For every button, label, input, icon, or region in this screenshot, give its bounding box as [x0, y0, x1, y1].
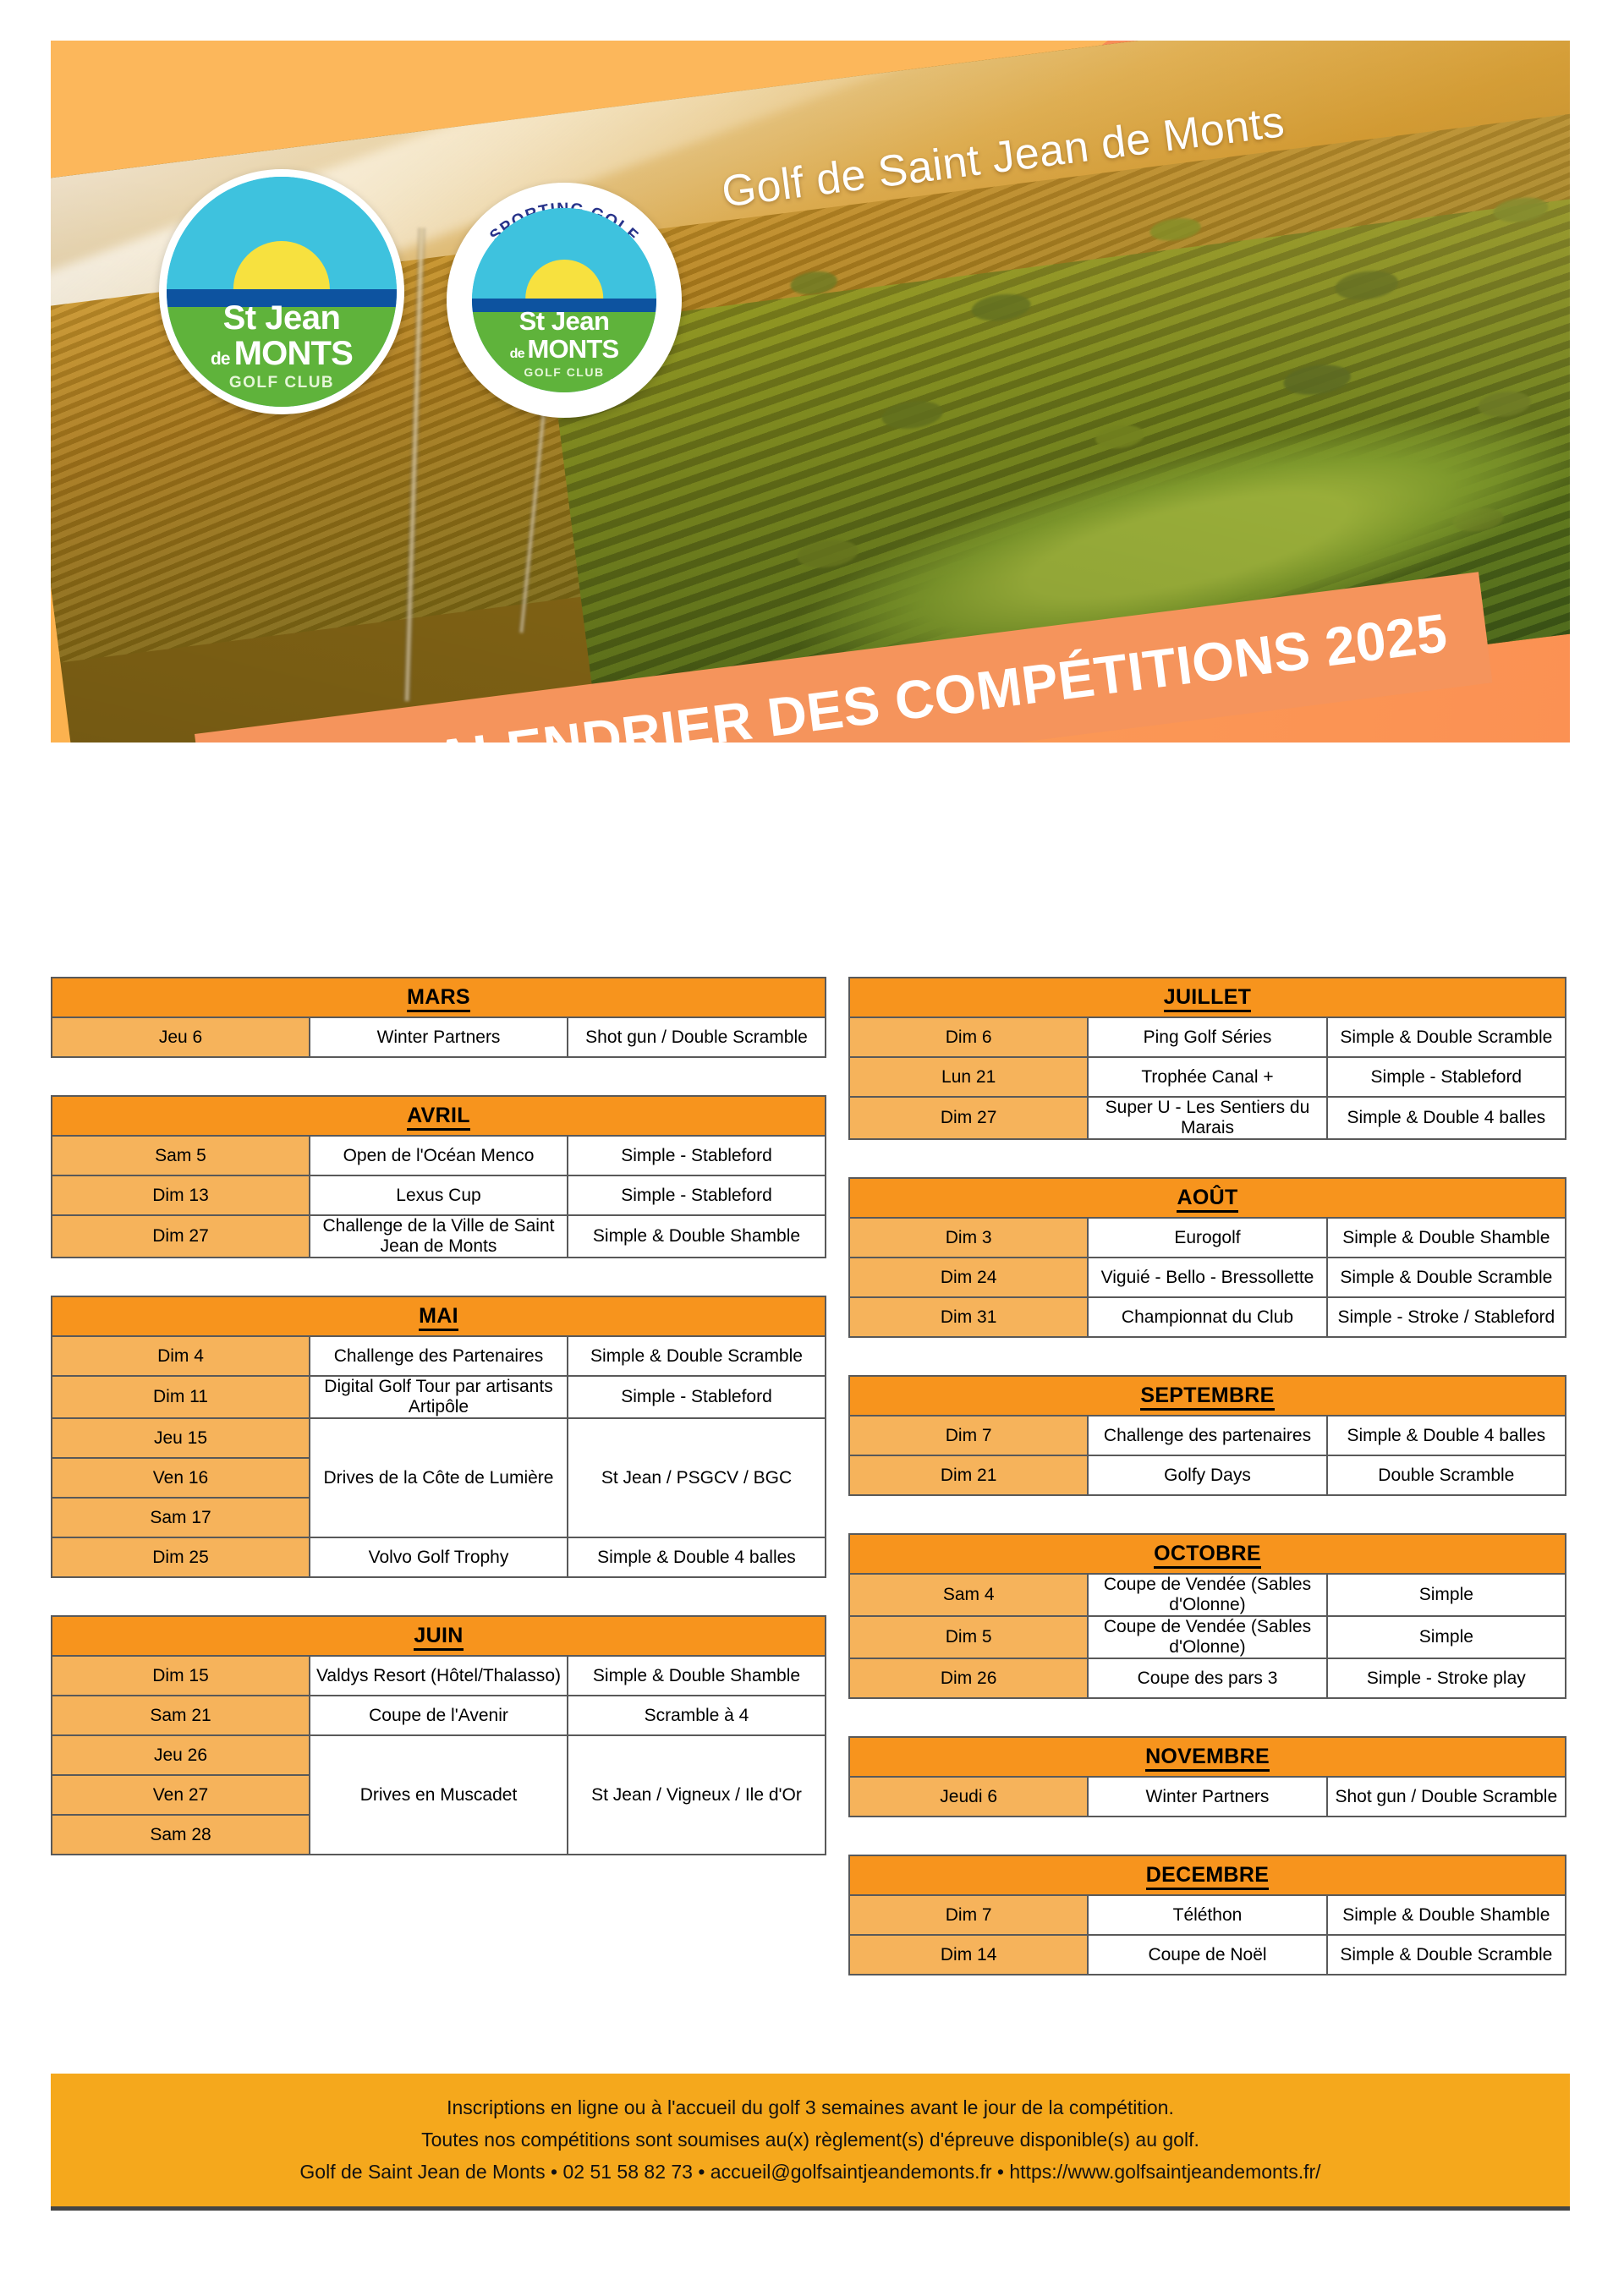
- month-table-juillet: JUILLETDim 6Ping Golf SériesSimple & Dou…: [848, 977, 1566, 1140]
- table-row: Dim 7TéléthonSimple & Double Shamble: [849, 1895, 1566, 1935]
- competition-date: Sam 21: [52, 1696, 310, 1735]
- footer-rules-note: Toutes nos compétitions sont soumises au…: [421, 2129, 1199, 2151]
- competition-format: Shot gun / Double Scramble: [1327, 1777, 1566, 1817]
- competition-date: Dim 27: [52, 1215, 310, 1258]
- table-row: Jeu 26Drives en MuscadetSt Jean / Vigneu…: [52, 1735, 826, 1775]
- competition-name: Trophée Canal +: [1088, 1057, 1326, 1097]
- logo-assoc-line3: GOLF CLUB: [472, 366, 656, 378]
- month-name-label: MAI: [419, 1304, 458, 1331]
- competition-date: Ven 27: [52, 1775, 310, 1815]
- competition-format: Simple & Double Shamble: [568, 1215, 826, 1258]
- competition-name: Drives de la Côte de Lumière: [310, 1418, 568, 1537]
- competition-format: Simple: [1327, 1574, 1566, 1616]
- month-name-septembre: SEPTEMBRE: [849, 1376, 1566, 1416]
- competition-date: Lun 21: [849, 1057, 1088, 1097]
- table-row: Dim 26Coupe des pars 3Simple - Stroke pl…: [849, 1658, 1566, 1698]
- month-table-aout: AOÛTDim 3EurogolfSimple & Double Shamble…: [848, 1177, 1566, 1338]
- competition-format: Simple - Stroke / Stableford: [1327, 1297, 1566, 1337]
- logo-main-de: de: [211, 349, 234, 369]
- competition-date: Jeu 26: [52, 1735, 310, 1775]
- competition-name: Digital Golf Tour par artisants Artipôle: [310, 1376, 568, 1418]
- table-row: Jeu 15Drives de la Côte de LumièreSt Jea…: [52, 1418, 826, 1458]
- month-header-row: DECEMBRE: [849, 1855, 1566, 1895]
- competition-format: Simple - Stableford: [568, 1136, 826, 1175]
- table-row: Dim 21Golfy DaysDouble Scramble: [849, 1455, 1566, 1495]
- month-name-novembre: NOVEMBRE: [849, 1737, 1566, 1777]
- competition-format: Simple & Double Scramble: [1327, 1017, 1566, 1057]
- competition-date: Dim 21: [849, 1455, 1088, 1495]
- month-name-mars: MARS: [52, 978, 826, 1017]
- month-name-octobre: OCTOBRE: [849, 1534, 1566, 1574]
- month-table-avril: AVRILSam 5Open de l'Océan MencoSimple - …: [51, 1095, 826, 1258]
- month-name-juin: JUIN: [52, 1616, 826, 1656]
- month-header-row: JUIN: [52, 1616, 826, 1656]
- table-row: Sam 4Coupe de Vendée (Sables d'Olonne)Si…: [849, 1574, 1566, 1616]
- competition-name: Open de l'Océan Menco: [310, 1136, 568, 1175]
- table-row: Sam 21Coupe de l'AvenirScramble à 4: [52, 1696, 826, 1735]
- page-footer: Inscriptions en ligne ou à l'accueil du …: [51, 2074, 1570, 2211]
- logo-assoc-line1: St Jean: [472, 308, 656, 334]
- logo-main-line3: GOLF CLUB: [167, 375, 397, 391]
- competition-format: Simple - Stableford: [568, 1376, 826, 1418]
- month-name-label: MARS: [407, 985, 470, 1012]
- competition-name: Coupe des pars 3: [1088, 1658, 1326, 1698]
- competition-date: Ven 16: [52, 1458, 310, 1498]
- month-name-label: JUIN: [414, 1624, 463, 1651]
- competition-format: Shot gun / Double Scramble: [568, 1017, 826, 1057]
- logo-assoc-de: de: [510, 346, 528, 361]
- competition-name: Valdys Resort (Hôtel/Thalasso): [310, 1656, 568, 1696]
- logo-main-jean: Jean: [256, 299, 341, 337]
- competition-date: Dim 3: [849, 1218, 1088, 1258]
- logo-assoc-jean: Jean: [545, 306, 610, 336]
- table-row: Dim 27Super U - Les Sentiers du MaraisSi…: [849, 1097, 1566, 1139]
- competition-date: Dim 25: [52, 1537, 310, 1577]
- table-row: Jeudi 6Winter PartnersShot gun / Double …: [849, 1777, 1566, 1817]
- month-name-avril: AVRIL: [52, 1096, 826, 1136]
- month-header-row: SEPTEMBRE: [849, 1376, 1566, 1416]
- competition-name: Challenge des Partenaires: [310, 1336, 568, 1376]
- competition-date: Dim 26: [849, 1658, 1088, 1698]
- competition-name: Winter Partners: [310, 1017, 568, 1057]
- month-name-juillet: JUILLET: [849, 978, 1566, 1017]
- competition-name: Eurogolf: [1088, 1218, 1326, 1258]
- competition-format: Simple & Double Shamble: [1327, 1218, 1566, 1258]
- competition-date: Dim 31: [849, 1297, 1088, 1337]
- competition-date: Dim 6: [849, 1017, 1088, 1057]
- competition-format: Simple & Double 4 balles: [1327, 1416, 1566, 1455]
- logo-sporting-golf-icon: SPORTING GOLF St Jean de MONTS GOLF CLUB…: [447, 183, 682, 418]
- competition-date: Dim 5: [849, 1616, 1088, 1658]
- competition-date: Sam 17: [52, 1498, 310, 1537]
- competition-name: Drives en Muscadet: [310, 1735, 568, 1855]
- table-row: Dim 6Ping Golf SériesSimple & Double Scr…: [849, 1017, 1566, 1057]
- month-table-mai: MAIDim 4Challenge des PartenairesSimple …: [51, 1296, 826, 1578]
- competition-format: Simple & Double Shamble: [1327, 1895, 1566, 1935]
- logo-assoc-inner: St Jean de MONTS GOLF CLUB: [472, 208, 656, 392]
- month-name-label: OCTOBRE: [1154, 1542, 1261, 1569]
- page-header: Golf de Saint Jean de Monts CALENDRIER D…: [51, 41, 1570, 743]
- competition-date: Jeu 15: [52, 1418, 310, 1458]
- competition-name: Winter Partners: [1088, 1777, 1326, 1817]
- competition-format: Simple & Double 4 balles: [1327, 1097, 1566, 1139]
- competition-format: Scramble à 4: [568, 1696, 826, 1735]
- competition-format: Simple - Stableford: [1327, 1057, 1566, 1097]
- competition-name: Volvo Golf Trophy: [310, 1537, 568, 1577]
- competition-name: Super U - Les Sentiers du Marais: [1088, 1097, 1326, 1139]
- competition-name: Golfy Days: [1088, 1455, 1326, 1495]
- competition-name: Téléthon: [1088, 1895, 1326, 1935]
- competition-format: Simple - Stroke play: [1327, 1658, 1566, 1698]
- table-row: Sam 5Open de l'Océan MencoSimple - Stabl…: [52, 1136, 826, 1175]
- logo-assoc-st: St: [519, 306, 545, 336]
- footer-contact-info: Golf de Saint Jean de Monts • 02 51 58 8…: [299, 2161, 1320, 2184]
- table-row: Dim 14Coupe de NoëlSimple & Double Scram…: [849, 1935, 1566, 1975]
- table-row: Dim 4Challenge des PartenairesSimple & D…: [52, 1336, 826, 1376]
- month-table-novembre: NOVEMBREJeudi 6Winter PartnersShot gun /…: [848, 1736, 1566, 1817]
- competition-date: Jeudi 6: [849, 1777, 1088, 1817]
- month-header-row: OCTOBRE: [849, 1534, 1566, 1574]
- competition-date: Dim 7: [849, 1416, 1088, 1455]
- logo-assoc-monts: MONTS: [527, 334, 618, 364]
- table-row: Dim 31Championnat du ClubSimple - Stroke…: [849, 1297, 1566, 1337]
- competition-name: Lexus Cup: [310, 1175, 568, 1215]
- competition-format: St Jean / Vigneux / Ile d'Or: [568, 1735, 826, 1855]
- calendar-column-right: JUILLETDim 6Ping Golf SériesSimple & Dou…: [848, 977, 1566, 2013]
- logo-main-inner: St Jean de MONTS GOLF CLUB: [167, 177, 397, 407]
- competition-format: Simple: [1327, 1616, 1566, 1658]
- table-row: Dim 15Valdys Resort (Hôtel/Thalasso)Simp…: [52, 1656, 826, 1696]
- table-row: Dim 25Volvo Golf TrophySimple & Double 4…: [52, 1537, 826, 1577]
- month-table-juin: JUINDim 15Valdys Resort (Hôtel/Thalasso)…: [51, 1615, 826, 1855]
- competition-date: Dim 14: [849, 1935, 1088, 1975]
- logo-main-st: St: [223, 299, 256, 337]
- month-name-label: DECEMBRE: [1146, 1863, 1269, 1890]
- month-table-septembre: SEPTEMBREDim 7Challenge des partenairesS…: [848, 1375, 1566, 1496]
- competition-date: Jeu 6: [52, 1017, 310, 1057]
- month-header-row: AOÛT: [849, 1178, 1566, 1218]
- month-header-row: MARS: [52, 978, 826, 1017]
- month-header-row: AVRIL: [52, 1096, 826, 1136]
- table-row: Dim 13Lexus CupSimple - Stableford: [52, 1175, 826, 1215]
- month-header-row: MAI: [52, 1296, 826, 1336]
- competition-format: Double Scramble: [1327, 1455, 1566, 1495]
- competition-date: Dim 15: [52, 1656, 310, 1696]
- competition-date: Dim 13: [52, 1175, 310, 1215]
- logo-main-line2: de MONTS: [167, 337, 397, 370]
- month-name-decembre: DECEMBRE: [849, 1855, 1566, 1895]
- month-name-aout: AOÛT: [849, 1178, 1566, 1218]
- month-header-row: JUILLET: [849, 978, 1566, 1017]
- month-name-label: AVRIL: [407, 1104, 470, 1131]
- month-name-label: SEPTEMBRE: [1140, 1384, 1274, 1411]
- competition-date: Dim 11: [52, 1376, 310, 1418]
- month-table-mars: MARSJeu 6Winter PartnersShot gun / Doubl…: [51, 977, 826, 1058]
- month-name-mai: MAI: [52, 1296, 826, 1336]
- logo-golf-club-icon: St Jean de MONTS GOLF CLUB: [159, 169, 404, 414]
- competition-date: Dim 27: [849, 1097, 1088, 1139]
- month-name-label: JUILLET: [1164, 985, 1252, 1012]
- competition-name: Challenge de la Ville de Saint Jean de M…: [310, 1215, 568, 1258]
- competition-date: Sam 28: [52, 1815, 310, 1855]
- table-row: Lun 21Trophée Canal +Simple - Stableford: [849, 1057, 1566, 1097]
- competition-name: Ping Golf Séries: [1088, 1017, 1326, 1057]
- month-name-label: AOÛT: [1177, 1186, 1237, 1213]
- table-row: Dim 3EurogolfSimple & Double Shamble: [849, 1218, 1566, 1258]
- competition-format: Simple & Double Scramble: [568, 1336, 826, 1376]
- table-row: Dim 27Challenge de la Ville de Saint Jea…: [52, 1215, 826, 1258]
- competition-format: Simple & Double Scramble: [1327, 1935, 1566, 1975]
- competition-date: Dim 7: [849, 1895, 1088, 1935]
- competition-name: Coupe de l'Avenir: [310, 1696, 568, 1735]
- table-row: Dim 5Coupe de Vendée (Sables d'Olonne)Si…: [849, 1616, 1566, 1658]
- competition-format: Simple - Stableford: [568, 1175, 826, 1215]
- table-row: Dim 24Viguié - Bello - BressolletteSimpl…: [849, 1258, 1566, 1297]
- competition-format: Simple & Double Scramble: [1327, 1258, 1566, 1297]
- competition-format: St Jean / PSGCV / BGC: [568, 1418, 826, 1537]
- competition-name: Challenge des partenaires: [1088, 1416, 1326, 1455]
- calendar-column-left: MARSJeu 6Winter PartnersShot gun / Doubl…: [51, 977, 826, 1893]
- competition-date: Dim 4: [52, 1336, 310, 1376]
- footer-registration-note: Inscriptions en ligne ou à l'accueil du …: [447, 2096, 1174, 2119]
- competition-date: Sam 5: [52, 1136, 310, 1175]
- logo-main-line1: St Jean: [167, 301, 397, 335]
- competition-format: Simple & Double Shamble: [568, 1656, 826, 1696]
- competition-date: Dim 24: [849, 1258, 1088, 1297]
- logo-main-monts: MONTS: [234, 335, 353, 372]
- month-header-row: NOVEMBRE: [849, 1737, 1566, 1777]
- competition-name: Coupe de Noël: [1088, 1935, 1326, 1975]
- competition-name: Coupe de Vendée (Sables d'Olonne): [1088, 1574, 1326, 1616]
- logo-main-text: St Jean de MONTS GOLF CLUB: [167, 301, 397, 391]
- month-table-decembre: DECEMBREDim 7TéléthonSimple & Double Sha…: [848, 1855, 1566, 1975]
- month-table-octobre: OCTOBRESam 4Coupe de Vendée (Sables d'Ol…: [848, 1533, 1566, 1699]
- table-row: Dim 11Digital Golf Tour par artisants Ar…: [52, 1376, 826, 1418]
- table-row: Dim 7Challenge des partenairesSimple & D…: [849, 1416, 1566, 1455]
- competition-name: Coupe de Vendée (Sables d'Olonne): [1088, 1616, 1326, 1658]
- logo-assoc-text: St Jean de MONTS GOLF CLUB: [472, 308, 656, 378]
- competition-date: Sam 4: [849, 1574, 1088, 1616]
- competition-format: Simple & Double 4 balles: [568, 1537, 826, 1577]
- competition-name: Viguié - Bello - Bressollette: [1088, 1258, 1326, 1297]
- competition-name: Championnat du Club: [1088, 1297, 1326, 1337]
- month-name-label: NOVEMBRE: [1145, 1745, 1270, 1772]
- logo-assoc-line2: de MONTS: [472, 336, 656, 362]
- table-row: Jeu 6Winter PartnersShot gun / Double Sc…: [52, 1017, 826, 1057]
